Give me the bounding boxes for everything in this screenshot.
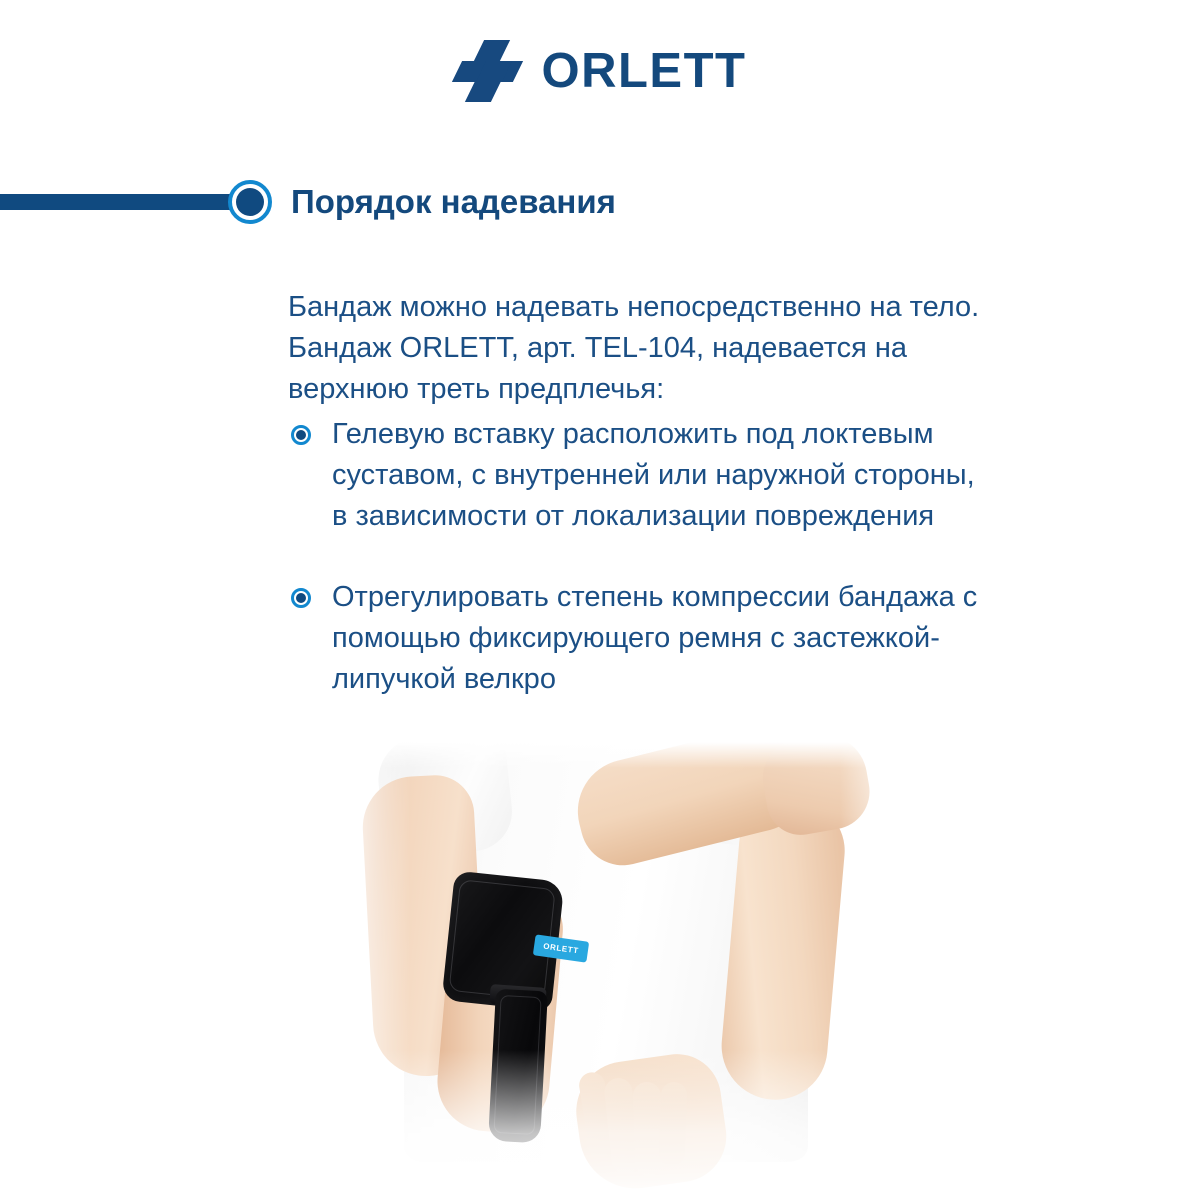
intro-paragraph: Бандаж можно надевать непосредственно на… bbox=[288, 287, 1018, 410]
brace-label-text: ORLETT bbox=[543, 942, 580, 956]
section-heading-block: Порядок надевания bbox=[0, 180, 1200, 228]
brand-logo: ORLETT bbox=[0, 36, 1200, 106]
list-item-label: Гелевую вставку расположить под локтевым… bbox=[332, 418, 975, 532]
heading-rule bbox=[0, 194, 248, 210]
brand-wordmark: ORLETT bbox=[542, 47, 747, 96]
product-photo: ORLETT bbox=[340, 742, 910, 1200]
list-item: Гелевую вставку расположить под локтевым… bbox=[288, 414, 988, 537]
bullet-marker-icon bbox=[291, 425, 311, 445]
orlett-diamond-cross-icon bbox=[454, 40, 520, 102]
page-title: Порядок надевания bbox=[291, 180, 616, 224]
list-item-label: Отрегулировать степень компрессии бандаж… bbox=[332, 581, 977, 695]
photo-canvas: ORLETT bbox=[340, 742, 910, 1200]
photo-fade-top bbox=[340, 742, 910, 768]
instruction-list: Гелевую вставку расположить под локтевым… bbox=[288, 414, 988, 700]
photo-fade-bottom bbox=[340, 1050, 910, 1200]
bullet-marker-icon bbox=[291, 588, 311, 608]
list-item: Отрегулировать степень компрессии бандаж… bbox=[288, 577, 988, 700]
product-instruction-page: ORLETT Порядок надевания Бандаж можно на… bbox=[0, 0, 1200, 1200]
heading-marker-icon bbox=[228, 180, 272, 224]
